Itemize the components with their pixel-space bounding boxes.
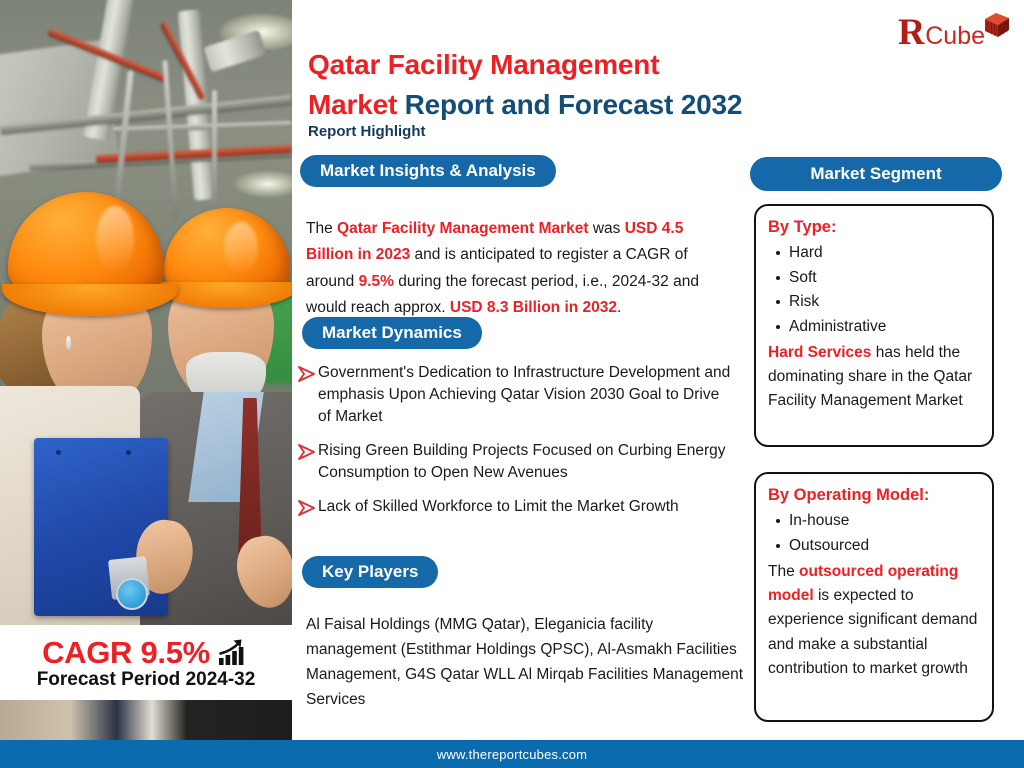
by-operating-model-list: In-house Outsourced [768,509,980,558]
model-note-pre: The [768,563,799,580]
list-item-label: Rising Green Building Projects Focused o… [318,440,736,484]
content-area: Я Cube [292,0,1024,740]
infographic-page: CAGR 9.5% Forecast Period 2024-32 Я Cube [0,0,1024,768]
cagr-badge: CAGR 9.5% Forecast Period 2024-32 [0,625,292,700]
list-item-label: Government's Dedication to Infrastructur… [318,362,736,428]
insights-hl-1: Qatar Facility Management Market [337,220,589,237]
list-item: Soft [789,266,980,290]
insights-text-1: The [306,220,337,237]
by-type-note-highlight: Hard Services [768,344,871,361]
photo-earring [66,336,71,350]
cagr-value: CAGR 9.5% [42,637,210,668]
insights-text-5: . [617,299,621,316]
list-item: Lack of Skilled Workforce to Limit the M… [296,496,736,518]
red-arrow-bullet-icon [296,442,318,462]
page-title-blue: Report and Forecast 2032 [405,89,743,120]
report-highlight-label: Report Highlight [308,123,425,140]
by-operating-model-note: The outsourced operating model is expect… [768,560,980,681]
segment-box-by-type: By Type: Hard Soft Risk Administrative H… [754,204,994,447]
footer-website-url[interactable]: www.thereportcubes.com [437,747,587,762]
by-type-list: Hard Soft Risk Administrative [768,241,980,339]
by-operating-model-heading: By Operating Model: [768,484,980,507]
list-item: In-house [789,509,980,533]
pill-market-insights: Market Insights & Analysis [300,155,556,187]
red-arrow-bullet-icon [296,364,318,384]
list-item: Hard [789,241,980,265]
list-item-label: Lack of Skilled Workforce to Limit the M… [318,496,679,518]
insights-hl-4: USD 8.3 Billion in 2032 [450,299,617,316]
insights-hl-3: 9.5% [359,273,394,290]
section-market-dynamics-header: Market Dynamics [302,317,482,349]
list-item: Outsourced [789,534,980,558]
footer-bar: www.thereportcubes.com [0,740,1024,768]
page-title-red-line1: Qatar Facility Management [308,49,659,80]
list-item: Government's Dedication to Infrastructur… [296,362,736,428]
photo-helmet-shine-female [96,206,134,272]
photo-helmet-shine-male [224,222,258,274]
list-item: Administrative [789,315,980,339]
photo-clipboard-hole-1 [56,450,61,455]
pill-market-segment: Market Segment [750,157,1002,191]
photo-pipe-grey-4 [212,90,217,220]
section-market-segment-header: Market Segment [750,157,1002,191]
pill-key-players: Key Players [302,556,438,588]
list-item: Rising Green Building Projects Focused o… [296,440,736,484]
key-players-body: Al Faisal Holdings (MMG Qatar), Eleganic… [306,612,746,712]
list-item: Risk [789,290,980,314]
section-market-insights-header: Market Insights & Analysis [300,155,556,187]
segment-box-by-operating-model: By Operating Model: In-house Outsourced … [754,472,994,722]
cagr-forecast-period: Forecast Period 2024-32 [37,670,256,689]
photo-bottom-strip [0,700,292,740]
market-dynamics-list: Government's Dedication to Infrastructur… [296,362,736,530]
pill-market-dynamics: Market Dynamics [302,317,482,349]
photo-watch-face [116,578,148,610]
by-type-heading: By Type: [768,216,980,239]
market-insights-body: The Qatar Facility Management Market was… [306,216,734,323]
insights-text-2: was [589,220,625,237]
by-type-note: Hard Services has held the dominating sh… [768,341,980,414]
market-segment-column: Market Segment By Type: Hard Soft Risk A… [750,0,1024,740]
page-title-red-line2: Market [308,89,397,120]
red-arrow-bullet-icon [296,498,318,518]
growth-chart-icon [218,638,250,666]
photo-clipboard-hole-2 [126,450,131,455]
section-key-players-header: Key Players [302,556,438,588]
cagr-headline-row: CAGR 9.5% [42,637,250,668]
